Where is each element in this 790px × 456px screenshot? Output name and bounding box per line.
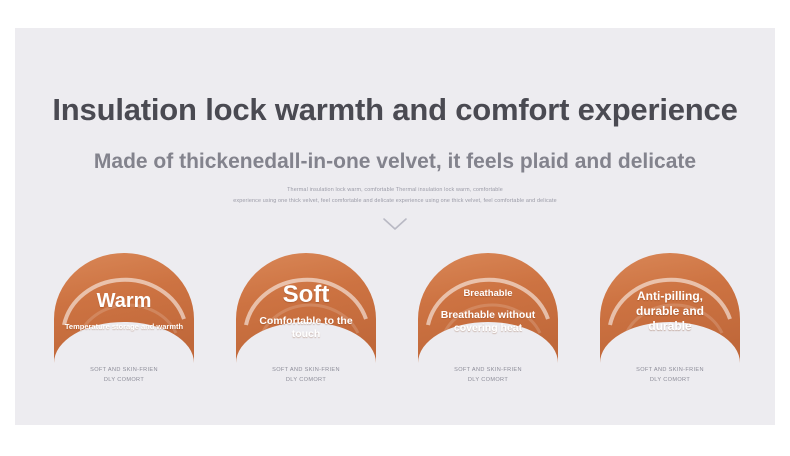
badge-text: Warm Temperature storage and warmth <box>52 253 196 363</box>
feature-badge: Breathable Breathable without covering h… <box>416 253 560 398</box>
badge-text: Soft Comfortable to the touch <box>234 253 378 363</box>
badge-caption: SOFT AND SKIN-FRIEN DLY COMORT <box>416 366 560 385</box>
description-line-2: experience using one thick velvet, feel … <box>0 196 790 207</box>
page-subtitle: Made of thickenedall-in-one velvet, it f… <box>0 150 790 174</box>
badge-caption: SOFT AND SKIN-FRIEN DLY COMORT <box>234 366 378 385</box>
badge-subheading: Comfortable to the touch <box>250 315 362 341</box>
description-paragraph: Thermal insulation lock warm, comfortabl… <box>0 185 790 207</box>
badge-caption-line-2: DLY COMORT <box>598 376 742 386</box>
badge-caption-line-2: DLY COMORT <box>416 376 560 386</box>
fan-shape: Anti-pilling, durable and durable <box>598 253 742 363</box>
feature-badge: Anti-pilling, durable and durable SOFT A… <box>598 253 742 398</box>
badge-heading: Warm <box>97 290 152 313</box>
badge-caption-line-1: SOFT AND SKIN-FRIEN <box>234 366 378 376</box>
product-feature-banner: Insulation lock warmth and comfort exper… <box>0 0 790 456</box>
badge-subheading: Breathable without covering heat <box>427 309 549 335</box>
feature-badge: Warm Temperature storage and warmth SOFT… <box>52 253 196 398</box>
fan-shape: Soft Comfortable to the touch <box>234 253 378 363</box>
page-title: Insulation lock warmth and comfort exper… <box>0 92 790 128</box>
badge-caption: SOFT AND SKIN-FRIEN DLY COMORT <box>598 366 742 385</box>
fan-shape: Breathable Breathable without covering h… <box>416 253 560 363</box>
feature-badge: Soft Comfortable to the touch SOFT AND S… <box>234 253 378 398</box>
badge-text: Breathable Breathable without covering h… <box>416 253 560 363</box>
badge-caption: SOFT AND SKIN-FRIEN DLY COMORT <box>52 366 196 385</box>
badge-caption-line-1: SOFT AND SKIN-FRIEN <box>52 366 196 376</box>
badge-caption-line-1: SOFT AND SKIN-FRIEN <box>598 366 742 376</box>
badge-heading: Anti-pilling, durable and durable <box>615 289 725 334</box>
description-line-1: Thermal insulation lock warm, comfortabl… <box>0 185 790 196</box>
badge-text: Anti-pilling, durable and durable <box>598 253 742 363</box>
feature-badge-row: Warm Temperature storage and warmth SOFT… <box>52 253 742 398</box>
fan-shape: Warm Temperature storage and warmth <box>52 253 196 363</box>
badge-caption-line-2: DLY COMORT <box>52 376 196 386</box>
badge-heading: Breathable <box>463 288 512 299</box>
chevron-down-icon <box>382 216 408 232</box>
badge-caption-line-2: DLY COMORT <box>234 376 378 386</box>
badge-subheading: Temperature storage and warmth <box>65 322 183 332</box>
badge-caption-line-1: SOFT AND SKIN-FRIEN <box>416 366 560 376</box>
badge-heading: Soft <box>283 281 330 309</box>
